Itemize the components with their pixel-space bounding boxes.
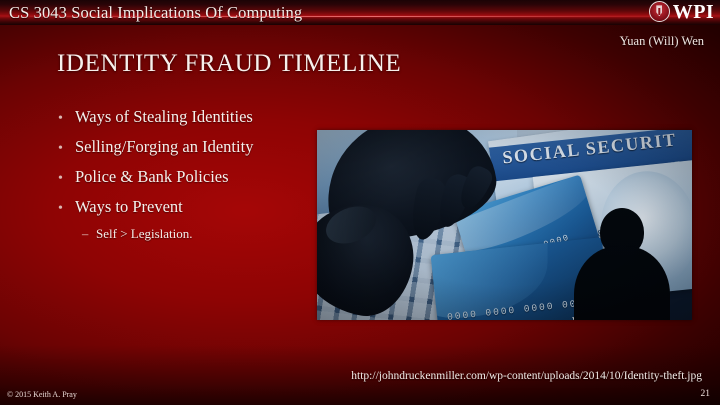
person-silhouette-graphic [574, 208, 670, 320]
list-item: • Police & Bank Policies [58, 167, 318, 187]
wpi-logo: WPI [649, 1, 714, 22]
bullet-text: Selling/Forging an Identity [75, 137, 253, 157]
sub-list-item: – Self > Legislation. [82, 226, 318, 242]
list-item: • Ways of Stealing Identities [58, 107, 318, 127]
slide-header-bar: CS 3043 Social Implications Of Computing [0, 0, 720, 25]
bullet-marker-icon: • [58, 112, 75, 126]
copyright-notice: © 2015 Keith A. Pray [7, 390, 77, 399]
sub-bullet-text: Self > Legislation. [96, 226, 193, 242]
sub-bullet-marker-icon: – [82, 227, 96, 242]
bullet-marker-icon: • [58, 172, 75, 186]
bullet-text: Police & Bank Policies [75, 167, 229, 187]
wpi-seal-icon [649, 1, 670, 22]
bullet-marker-icon: • [58, 202, 75, 216]
silhouette-body [574, 246, 670, 320]
presentation-slide: CS 3043 Social Implications Of Computing… [0, 0, 720, 405]
identity-theft-image: SOCIAL SECURIT CIAL SECUR CL 05463856 B … [317, 130, 692, 320]
list-item: • Ways to Prevent [58, 197, 318, 217]
image-source-url: http://johndruckenmiller.com/wp-content/… [351, 370, 702, 382]
author-name: Yuan (Will) Wen [620, 34, 704, 49]
bullet-marker-icon: • [58, 142, 75, 156]
bullet-text: Ways of Stealing Identities [75, 107, 253, 127]
list-item: • Selling/Forging an Identity [58, 137, 318, 157]
page-title: IDENTITY FRAUD TIMELINE [57, 50, 401, 78]
wpi-wordmark: WPI [673, 2, 714, 22]
bullet-list: • Ways of Stealing Identities • Selling/… [58, 107, 318, 242]
page-number: 21 [701, 389, 711, 399]
course-title: CS 3043 Social Implications Of Computing [9, 3, 302, 23]
bullet-text: Ways to Prevent [75, 197, 183, 217]
